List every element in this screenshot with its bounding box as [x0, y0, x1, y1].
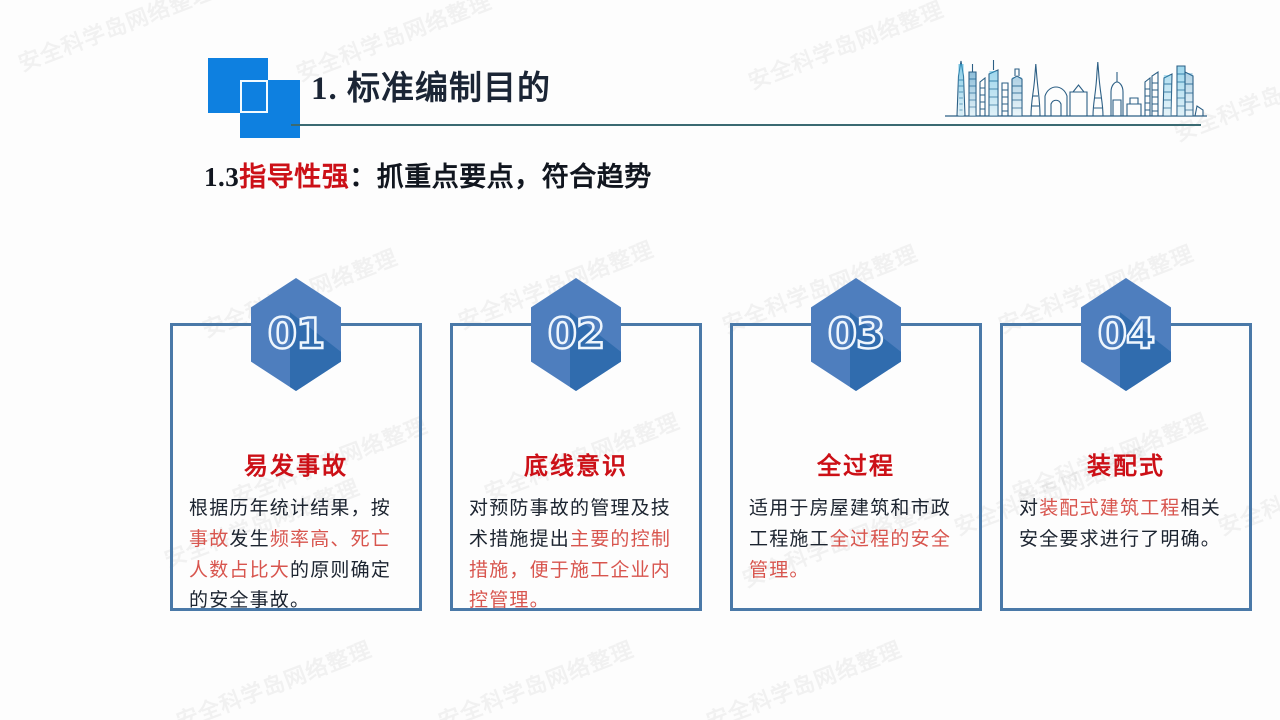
logo-square-outline	[240, 80, 268, 113]
text-run: 事故	[189, 529, 229, 550]
card-number-badge: 02	[531, 278, 621, 391]
card-number: 04	[1081, 278, 1171, 391]
subtitle-prefix: 1.3	[204, 162, 239, 192]
card-body: 对装配式建筑工程相关安全要求进行了明确。	[1019, 494, 1239, 556]
card-body: 根据历年统计结果，按事故发生频率高、死亡人数占比大的原则确定的安全事故。	[189, 494, 409, 617]
card-number: 03	[811, 278, 901, 391]
card-number: 01	[251, 278, 341, 391]
card-number: 02	[531, 278, 621, 391]
card-heading: 易发事故	[173, 446, 419, 481]
card-heading: 全过程	[733, 446, 979, 481]
card-body: 对预防事故的管理及技术措施提出主要的控制措施，便于施工企业内控管理。	[469, 494, 689, 617]
city-skyline-icon	[945, 52, 1207, 126]
text-run: 根据历年统计结果，按	[189, 498, 391, 519]
watermark-text: 安全科学岛网络整理	[171, 632, 376, 720]
subtitle-rest: ：抓重点要点，符合趋势	[349, 162, 652, 192]
card-heading: 装配式	[1003, 446, 1249, 481]
slide-header: 1. 标准编制目的	[0, 0, 1280, 150]
card-heading: 底线意识	[453, 446, 699, 481]
card-number-badge: 03	[811, 278, 901, 391]
card-number-badge: 04	[1081, 278, 1171, 391]
section-subtitle: 1.3指导性强：抓重点要点，符合趋势	[204, 155, 652, 194]
card-body: 适用于房屋建筑和市政工程施工全过程的安全管理。	[749, 494, 969, 586]
watermark-text: 安全科学岛网络整理	[701, 632, 906, 720]
watermark-text: 安全科学岛网络整理	[433, 632, 638, 720]
subtitle-highlight: 指导性强	[239, 162, 349, 192]
card-number-badge: 01	[251, 278, 341, 391]
text-run: 对	[1019, 498, 1039, 519]
feature-card-row: 易发事故 根据历年统计结果，按事故发生频率高、死亡人数占比大的原则确定的安全事故…	[170, 278, 1252, 613]
text-run: 发生	[229, 529, 269, 550]
overlapping-squares-icon	[208, 58, 318, 143]
text-run: 装配式建筑工程	[1039, 498, 1180, 519]
page-title: 1. 标准编制目的	[311, 61, 551, 109]
